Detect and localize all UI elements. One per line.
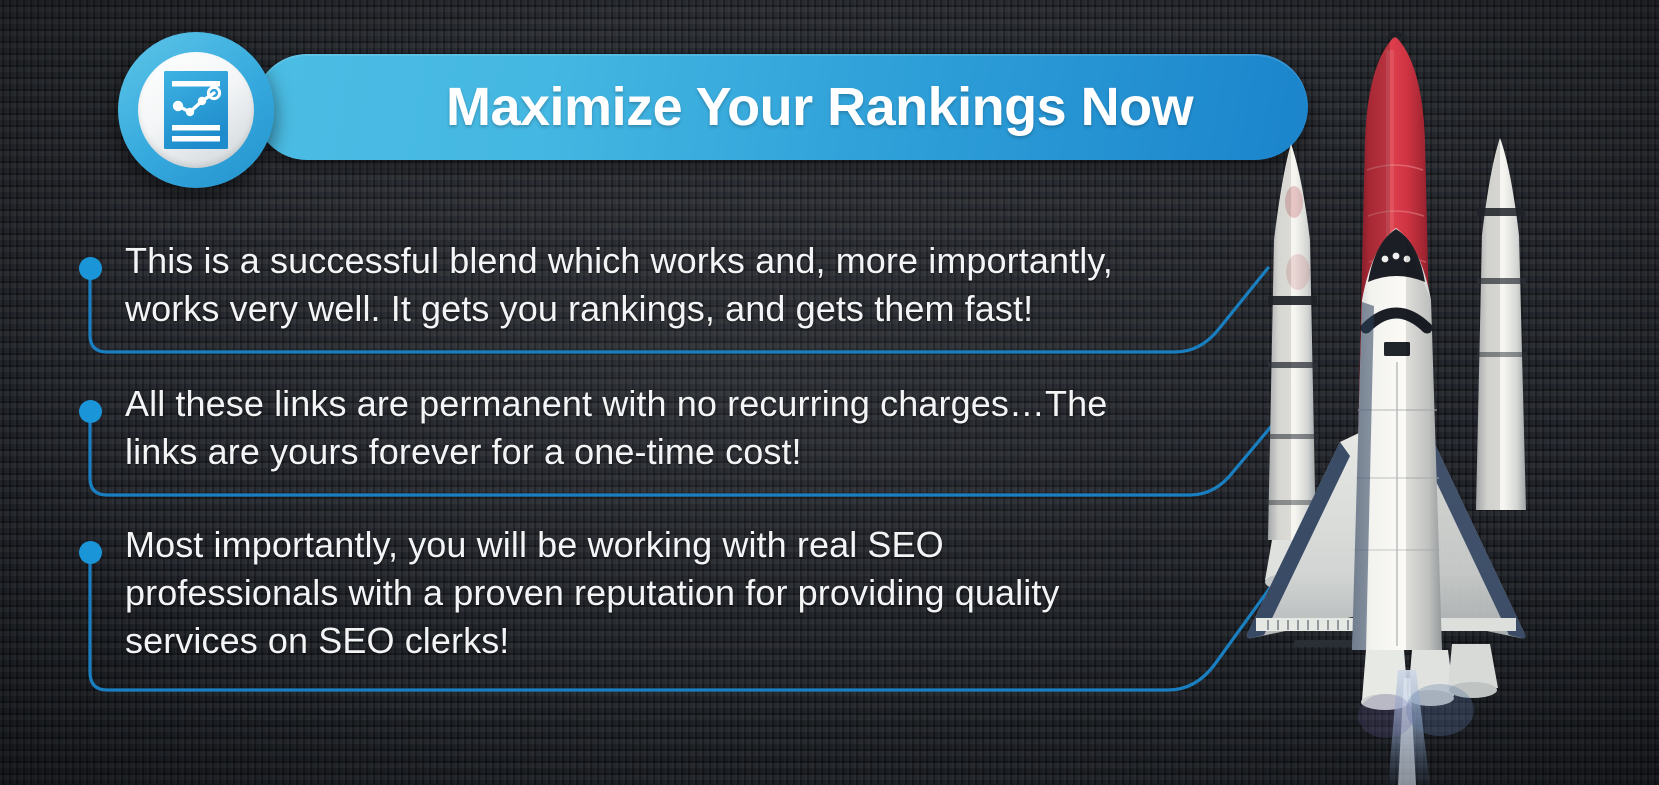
report-chart-document-icon <box>163 70 229 150</box>
promo-banner: Maximize Your Rankings Now <box>0 0 1659 785</box>
orbiter-fuselage <box>1352 228 1442 650</box>
bullet-text-1: This is a successful blend which works a… <box>125 237 1200 333</box>
bullet-dot-icon <box>79 400 102 423</box>
bullet-dot-icon <box>79 541 102 564</box>
header-badge-inner-circle <box>138 52 254 168</box>
right-solid-rocket-booster <box>1476 138 1527 510</box>
bullet-text-3: Most importantly, you will be working wi… <box>125 521 1185 665</box>
bullet-line: Most importantly, you will be working wi… <box>125 521 1185 569</box>
bullet-dot-icon <box>79 257 102 280</box>
space-shuttle-rocket-image <box>1190 10 1620 785</box>
main-engines <box>1358 644 1498 785</box>
bullet-line: All these links are permanent with no re… <box>125 380 1200 428</box>
bullet-line: works very well. It gets you rankings, a… <box>125 285 1200 333</box>
bullet-line: services on SEO clerks! <box>125 617 1185 665</box>
bullet-line: professionals with a proven reputation f… <box>125 569 1185 617</box>
bullet-line: This is a successful blend which works a… <box>125 237 1200 285</box>
bullet-line: links are yours forever for a one-time c… <box>125 428 1200 476</box>
bullet-text-2: All these links are permanent with no re… <box>125 380 1200 476</box>
header-badge <box>118 32 274 188</box>
